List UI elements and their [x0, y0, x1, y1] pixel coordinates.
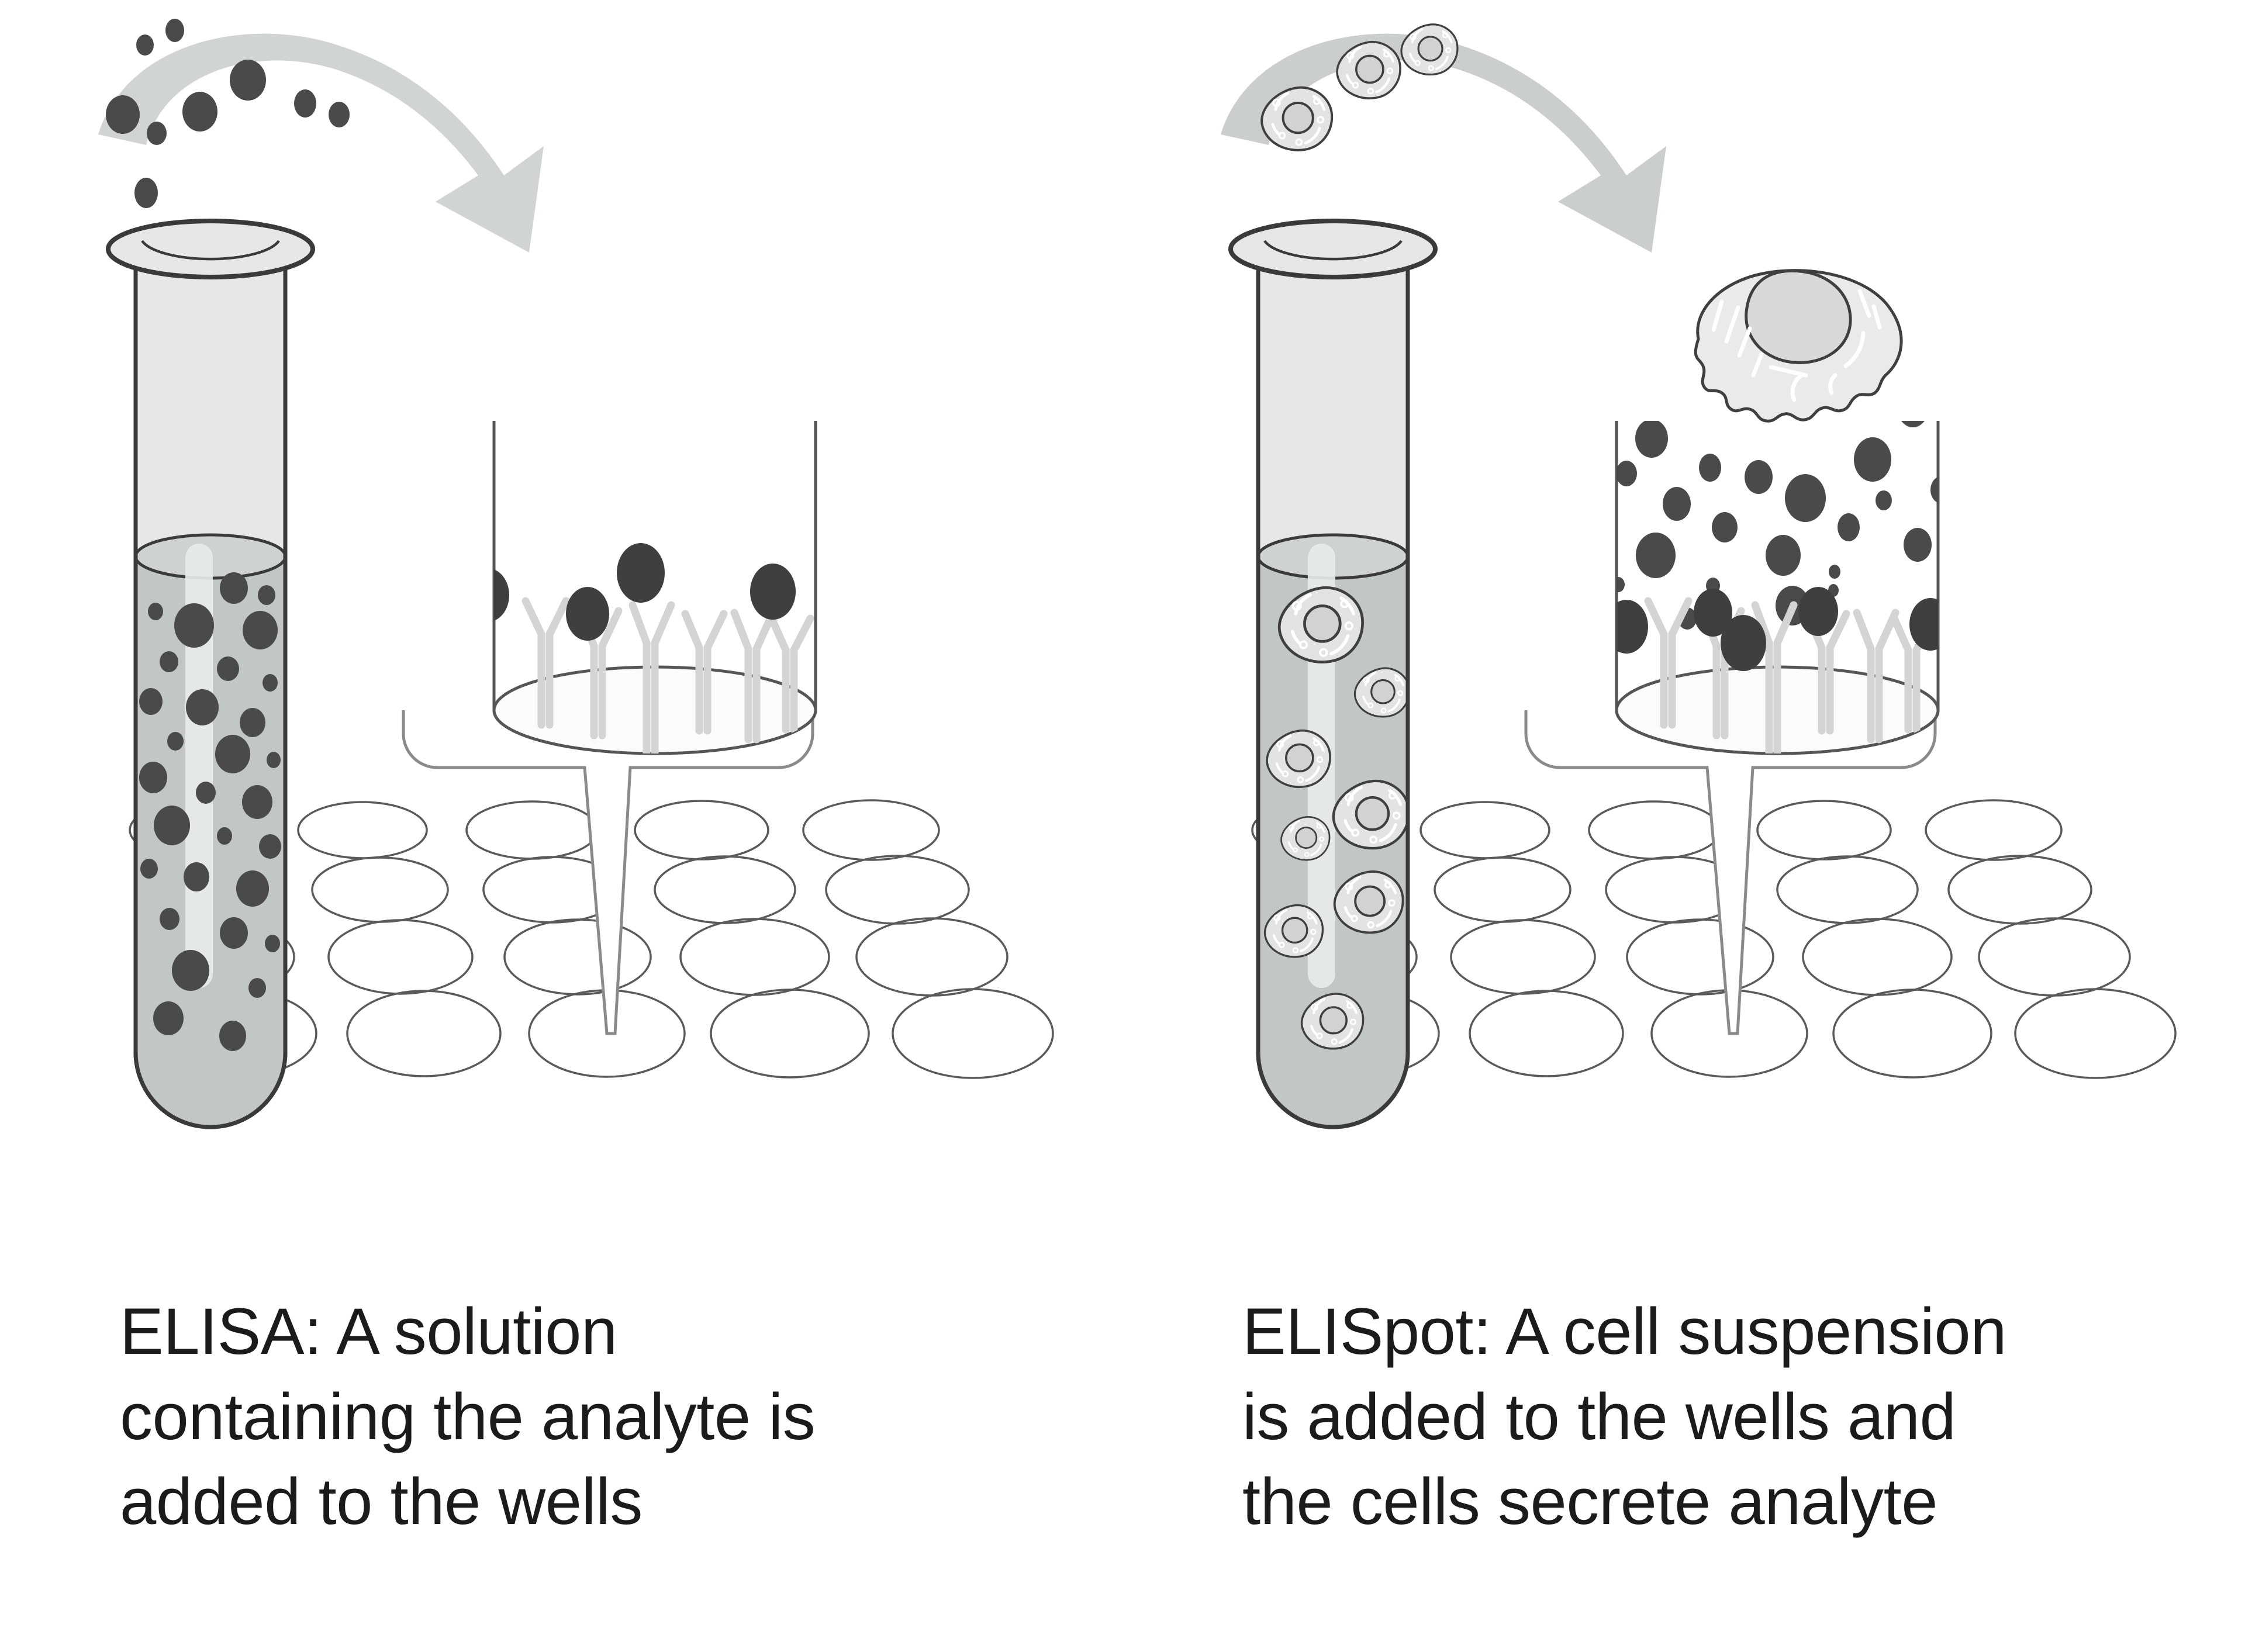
elispot-illustration — [1122, 0, 2245, 1257]
magnified-well — [1576, 271, 1952, 754]
secreting-cell-icon — [1695, 271, 1901, 421]
test-tube-icon — [1231, 221, 1435, 1135]
caption-elispot: ELISpot: A cell suspension is added to t… — [1242, 1289, 2195, 1544]
elisa-illustration — [0, 0, 1122, 1257]
curved-arrow-icon — [1221, 25, 1666, 253]
magnified-well — [466, 421, 816, 754]
curved-arrow-icon — [98, 19, 544, 253]
panel-elispot: ELISpot: A cell suspension is added to t… — [1122, 0, 2245, 1652]
magnifier-callout-icon — [1526, 710, 1935, 1034]
caption-elisa: ELISA: A solution containing the analyte… — [120, 1289, 1073, 1544]
magnifier-callout-icon — [403, 710, 813, 1034]
figure-canvas: ELISA: A solution containing the analyte… — [0, 0, 2245, 1652]
panel-elisa: ELISA: A solution containing the analyte… — [0, 0, 1122, 1652]
test-tube-icon — [108, 221, 313, 1135]
